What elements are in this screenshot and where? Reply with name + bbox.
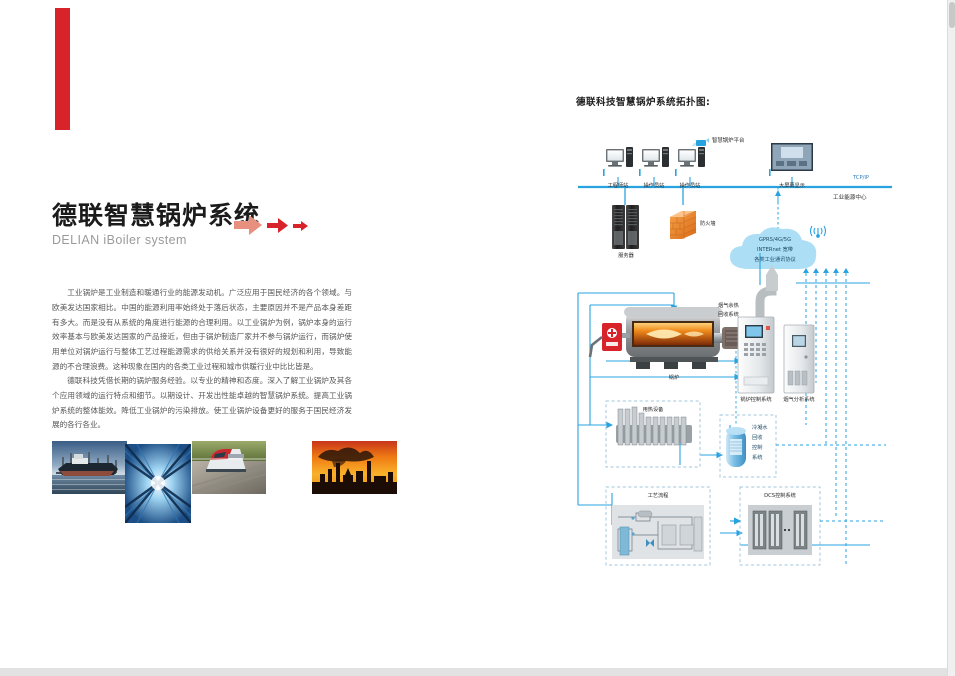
cloud-line-1: GPRS/4G/5G xyxy=(759,237,791,244)
cloud-line-3: 各类工业通讯协议 xyxy=(754,257,796,264)
arrow-large-icon xyxy=(234,215,262,235)
body-paragraph-2: 德联科技凭借长期的锅炉服务经验。以专业的精神和态度。深入了解工业锅炉及其各个应用… xyxy=(52,374,352,433)
heat-equipment-label: 用热设备 xyxy=(643,407,664,414)
photo-smoke xyxy=(312,441,397,494)
condensate-label-3: 控制 xyxy=(752,445,762,452)
photo-ship xyxy=(52,441,127,494)
workstation-label-3: 操作员站 xyxy=(680,183,701,190)
platform-label: 智慧锅炉平台 xyxy=(712,138,744,145)
big-screen-label: 大屏幕显示 xyxy=(779,183,805,190)
red-accent-bar xyxy=(55,8,70,130)
dcs-label: DCS控制系统 xyxy=(764,493,796,500)
workstation-label-2: 操作员站 xyxy=(644,183,665,190)
flue-recovery-label-line1: 烟气余热 xyxy=(718,303,739,310)
arrow-small-icon xyxy=(293,221,308,231)
workstation-label-1: 工程师站 xyxy=(608,183,629,190)
topology-diagram: 工程师站 操作员站 操作员站 大屏幕显示 TCP/IP 工业能源中心 服务器 防… xyxy=(570,125,900,575)
process-flow-label: 工艺流程 xyxy=(648,493,669,500)
condensate-label-1: 冷凝水 xyxy=(752,425,768,432)
platform-tag: 智慧锅炉平台 xyxy=(692,132,744,151)
cloud-line-2: INTERnet 宽带 xyxy=(757,247,793,254)
platform-cloud-icon xyxy=(692,132,709,151)
energy-center-label: 工业能源中心 xyxy=(833,195,867,203)
page-scrollbar[interactable] xyxy=(947,0,955,676)
condensate-label-4: 系统 xyxy=(752,455,762,462)
boiler-label: 锅炉 xyxy=(669,375,679,382)
firewall-label: 防火墙 xyxy=(700,221,716,228)
server-label: 服务器 xyxy=(618,253,634,260)
condensate-label-2: 回收 xyxy=(752,435,762,442)
flue-recovery-label-line2: 回收系统 xyxy=(718,312,739,319)
diagram-title: 德联科技智慧锅炉系统拓扑图: xyxy=(576,94,710,108)
arrow-group-icon xyxy=(234,212,314,242)
boiler-control-label: 锅炉控制系统 xyxy=(740,397,771,404)
scrollbar-thumb[interactable] xyxy=(949,2,955,28)
arrow-medium-icon xyxy=(267,218,288,233)
document-page: 德联智慧锅炉系统 DELIAN iBoiler system 工业锅炉是工业制造… xyxy=(0,0,947,668)
photo-strip xyxy=(52,441,362,531)
network-protocol-label: TCP/IP xyxy=(853,175,869,182)
photo-train xyxy=(192,441,266,494)
photo-bldg xyxy=(125,444,191,523)
body-paragraph-1: 工业锅炉是工业制造和暖通行业的能源发动机。广泛应用于国民经济的各个领域。与欧美发… xyxy=(52,286,352,375)
flue-analysis-label: 烟气分析系统 xyxy=(783,397,814,404)
